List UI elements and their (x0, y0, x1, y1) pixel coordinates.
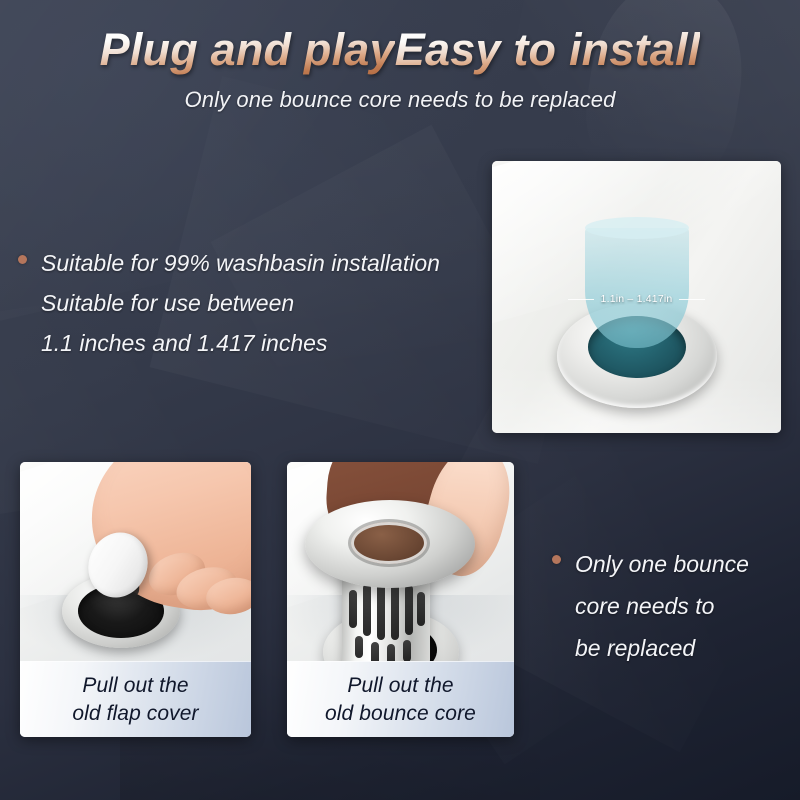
title-part-1: Plug and play (100, 24, 395, 76)
list-item: Suitable for use between (18, 283, 488, 323)
feature-text: be replaced (575, 627, 695, 669)
hero-photo-panel: 1.1in – 1.417in (492, 161, 781, 433)
title-part-2: Easy to install (395, 24, 701, 76)
caption-line-1: Pull out the (347, 672, 453, 700)
feature-text: 1.1 inches and 1.417 inches (41, 323, 327, 363)
list-item: Suitable for 99% washbasin installation (18, 243, 488, 283)
measurement-cylinder-top (585, 217, 689, 239)
feature-text: Suitable for use between (41, 283, 294, 323)
caption-line-1: Pull out the (82, 672, 188, 700)
step-panel-flap-cover: Pull out the old flap cover (20, 462, 251, 737)
page-title: Plug and playEasy to install (0, 24, 800, 76)
feature-text: Suitable for 99% washbasin installation (41, 243, 440, 283)
measure-line-left-icon (568, 299, 594, 300)
feature-text: Only one bounce (575, 543, 749, 585)
page-subtitle: Only one bounce core needs to be replace… (0, 87, 800, 113)
feature-list-left: Suitable for 99% washbasin installation … (18, 243, 488, 363)
bullet-dot-icon (552, 555, 561, 564)
step-panel-bounce-core: SUS304 Pull out the old bounce core (287, 462, 514, 737)
list-item: core needs to (552, 585, 792, 627)
basin-drain-photo: 1.1in – 1.417in (492, 161, 781, 433)
step-caption: Pull out the old flap cover (20, 661, 251, 737)
measurement-annotation: 1.1in – 1.417in (492, 293, 781, 305)
list-item: 1.1 inches and 1.417 inches (18, 323, 488, 363)
list-item: Only one bounce (552, 543, 792, 585)
caption-line-2: old flap cover (72, 700, 198, 728)
strainer-slot (403, 640, 411, 662)
feature-text: core needs to (575, 585, 714, 627)
measurement-value: 1.1in – 1.417in (601, 293, 673, 305)
feature-list-right: Only one bounce core needs to be replace… (552, 543, 792, 669)
step-caption: Pull out the old bounce core (287, 661, 514, 737)
strainer-slot (405, 585, 413, 635)
core-flange-opening (351, 522, 427, 564)
strainer-slot (363, 584, 371, 636)
bullet-dot-icon (18, 255, 27, 264)
list-item: be replaced (552, 627, 792, 669)
strainer-slot (355, 636, 363, 658)
caption-line-2: old bounce core (325, 700, 476, 728)
strainer-slot (391, 582, 399, 640)
measurement-cylinder-overlay (585, 228, 689, 348)
strainer-slots (345, 580, 427, 664)
measure-line-right-icon (679, 299, 705, 300)
strainer-slot (417, 592, 425, 626)
strainer-slot (377, 582, 385, 640)
strainer-slot (349, 590, 357, 628)
